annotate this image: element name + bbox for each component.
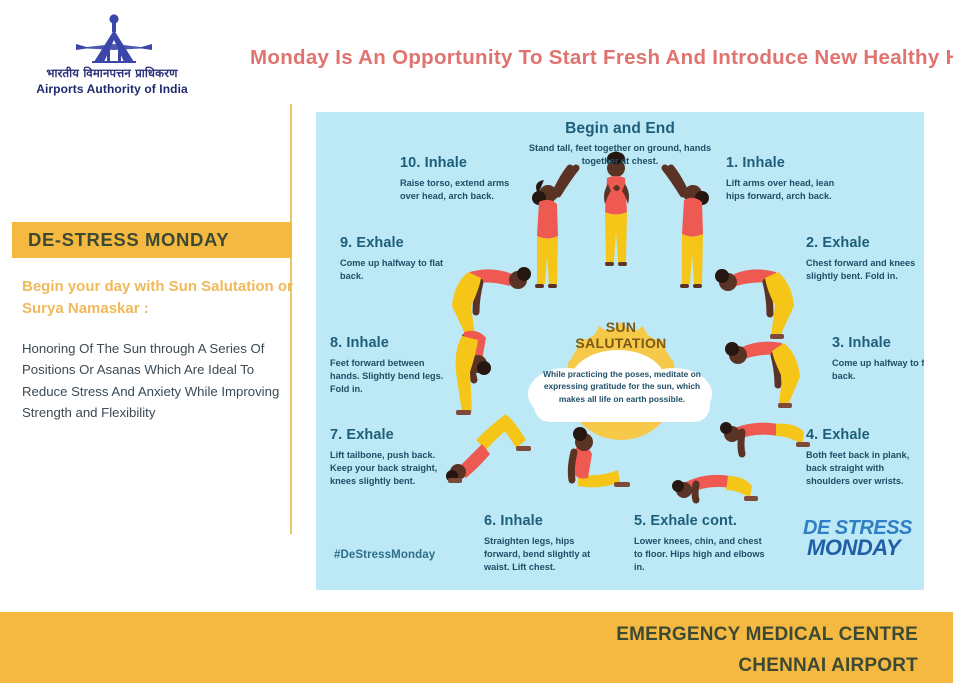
sun-salutation-center-graphic: SUN SALUTATION While practicing the pose… — [506, 302, 736, 430]
step-desc: Come up halfway to flat back. — [340, 257, 452, 283]
step-desc: Lower knees, chin, and chest to floor. H… — [634, 535, 770, 574]
aai-logo: भारतीय विमानपत्तन प्राधिकरण Airports Aut… — [22, 14, 202, 96]
step-6: 6. Inhale Straighten legs, hips forward,… — [484, 514, 608, 574]
footer-line-2: CHENNAI AIRPORT — [0, 655, 918, 677]
step-title: 1. Inhale — [726, 156, 850, 172]
step-title: 6. Inhale — [484, 514, 608, 530]
footer-bar: EMERGENCY MEDICAL CENTRE CHENNAI AIRPORT — [0, 612, 953, 683]
aai-logo-hindi-text: भारतीय विमानपत्तन प्राधिकरण — [22, 66, 202, 81]
step-title: 9. Exhale — [340, 236, 452, 252]
step-desc: Raise torso, extend arms over head, arch… — [400, 177, 526, 203]
sun-title-line1: SUN — [606, 319, 636, 335]
aai-logo-english-text: Airports Authority of India — [22, 82, 202, 96]
step-10: 10. Inhale Raise torso, extend arms over… — [400, 156, 526, 203]
step-title: 4. Exhale — [806, 428, 924, 444]
step-desc: Lift tailbone, push back. Keep your back… — [330, 449, 460, 488]
de-stress-monday-badge: DE-STRESS MONDAY — [12, 222, 292, 258]
step-8: 8. Inhale Feet forward between hands. Sl… — [330, 336, 450, 396]
poster-canvas: भारतीय विमानपत्तन प्राधिकरण Airports Aut… — [0, 0, 953, 683]
aai-tower-aircraft-logo-icon — [74, 14, 154, 66]
sun-title-line2: SALUTATION — [575, 335, 666, 351]
step-title: 5. Exhale cont. — [634, 514, 770, 530]
step-desc: Come up halfway to flat back. — [832, 357, 924, 383]
destress-logo-line2: MONDAY — [807, 537, 919, 559]
step-title: 3. Inhale — [832, 336, 924, 352]
step-5: 5. Exhale cont. Lower knees, chin, and c… — [634, 514, 770, 574]
footer-line-1: EMERGENCY MEDICAL CENTRE — [0, 624, 918, 646]
step-desc: Lift arms over head, lean hips forward, … — [726, 177, 850, 203]
step-desc: Feet forward between hands. Slightly ben… — [330, 357, 450, 396]
step-4: 4. Exhale Both feet back in plank, back … — [806, 428, 924, 488]
badge-label: DE-STRESS MONDAY — [28, 229, 229, 251]
step-desc: Straighten legs, hips forward, bend slig… — [484, 535, 608, 574]
hashtag-label: #DeStressMonday — [334, 549, 435, 561]
left-body-copy: Honoring Of The Sun through A Series Of … — [22, 338, 302, 424]
step-desc: Stand tall, feet together on ground, han… — [520, 142, 720, 168]
sun-salutation-title: SUN SALUTATION — [561, 320, 681, 351]
step-title: Begin and End — [520, 120, 720, 137]
left-subtitle: Begin your day with Sun Salutation or Su… — [22, 276, 297, 320]
step-1: 1. Inhale Lift arms over head, lean hips… — [726, 156, 850, 203]
step-title: 10. Inhale — [400, 156, 526, 172]
step-2: 2. Exhale Chest forward and knees slight… — [806, 236, 918, 283]
step-desc: Both feet back in plank, back straight w… — [806, 449, 924, 488]
step-desc: Chest forward and knees slightly bent. F… — [806, 257, 918, 283]
step-begin-and-end: Begin and End Stand tall, feet together … — [520, 120, 720, 168]
step-title: 2. Exhale — [806, 236, 918, 252]
step-title: 7. Exhale — [330, 428, 460, 444]
destress-monday-logo: DE STRESS MONDAY — [803, 518, 915, 570]
sun-salutation-infographic: SUN SALUTATION While practicing the pose… — [316, 112, 924, 590]
step-9: 9. Exhale Come up halfway to flat back. — [340, 236, 452, 283]
page-headline: Monday Is An Opportunity To Start Fresh … — [250, 46, 940, 70]
step-title: 8. Inhale — [330, 336, 450, 352]
step-3: 3. Inhale Come up halfway to flat back. — [832, 336, 924, 383]
sun-salutation-note: While practicing the poses, meditate on … — [534, 368, 710, 405]
step-7: 7. Exhale Lift tailbone, push back. Keep… — [330, 428, 460, 488]
